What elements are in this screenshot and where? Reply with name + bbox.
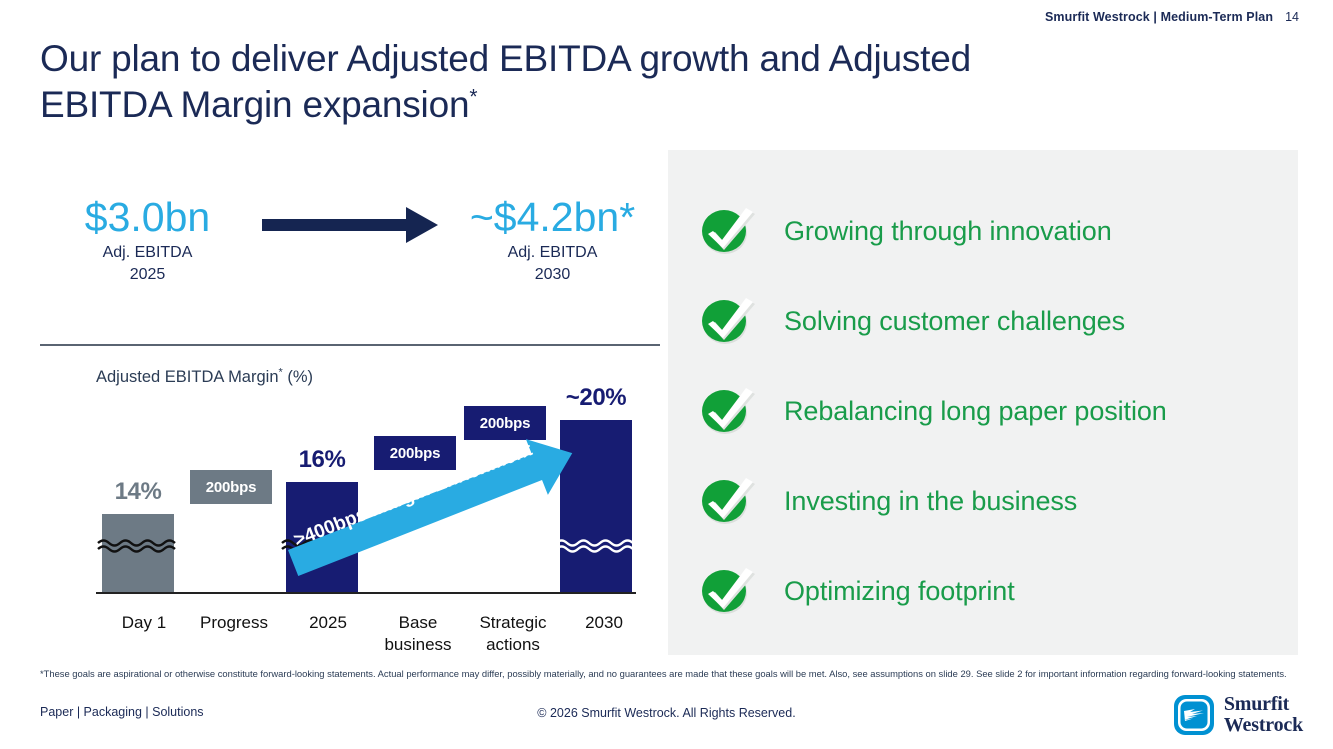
- xtick-strategic-actions: Strategic actions: [462, 612, 564, 656]
- bar-label-2025: 16%: [286, 446, 358, 474]
- xtick-day-1: Day 1: [98, 612, 190, 634]
- slide: Smurfit Westrock | Medium-Term Plan 14 O…: [0, 0, 1333, 749]
- chart-title-units: (%): [287, 368, 313, 386]
- chart-axis-line: [96, 592, 636, 594]
- ebitda-end-label-2: 2030: [445, 264, 660, 286]
- xtick-2025-line1: 2025: [282, 612, 374, 634]
- bullet-item-optimizing-footprint: Optimizing footprint: [698, 546, 1298, 636]
- check-circle-icon: [698, 292, 760, 350]
- bar-progress: 200bps: [190, 470, 272, 504]
- page-number: 14: [1285, 10, 1299, 24]
- bar-day-1: [102, 514, 174, 592]
- section-divider: [40, 344, 660, 346]
- ebitda-end-value: ~$4.2bn*: [445, 192, 660, 242]
- bar-2025: [286, 482, 358, 592]
- xtick-2030-line1: 2030: [558, 612, 650, 634]
- bar-label-2030: ~20%: [552, 384, 640, 412]
- bar-2030: [560, 420, 632, 592]
- footer-logo: Smurfit Westrock: [1173, 694, 1303, 736]
- logo-wordmark: Smurfit Westrock: [1224, 694, 1303, 736]
- ebitda-growth-row: $3.0bn Adj. EBITDA 2025 ~$4.2bn* Adj. EB…: [40, 192, 660, 312]
- page-title-line1: Our plan to deliver Adjusted EBITDA grow…: [40, 38, 971, 79]
- footer-copyright: © 2026 Smurfit Westrock. All Rights Rese…: [0, 706, 1333, 720]
- left-column: $3.0bn Adj. EBITDA 2025 ~$4.2bn* Adj. EB…: [40, 150, 660, 655]
- smurfit-westrock-logo-icon: [1173, 694, 1215, 736]
- slide-header: Smurfit Westrock | Medium-Term Plan 14: [1045, 10, 1299, 24]
- check-circle-icon: [698, 472, 760, 530]
- check-circle-icon: [698, 202, 760, 260]
- logo-wordmark-line1: Smurfit: [1224, 693, 1289, 715]
- ebitda-start-label-2: 2025: [40, 264, 255, 286]
- chart-title-text: Adjusted EBITDA Margin: [96, 368, 279, 386]
- bullet-label: Growing through innovation: [784, 215, 1112, 247]
- margin-waterfall-chart: Adjusted EBITDA Margin* (%) 14% 200bps 1…: [40, 368, 660, 658]
- ebitda-start-label-1: Adj. EBITDA: [40, 242, 255, 264]
- bullet-item-growing-through-innovation: Growing through innovation: [698, 186, 1298, 276]
- chart-title: Adjusted EBITDA Margin* (%): [96, 368, 313, 387]
- bar-strategic-actions: 200bps: [464, 406, 546, 440]
- xtick-strategic-actions-line2: actions: [462, 634, 564, 656]
- page-title: Our plan to deliver Adjusted EBITDA grow…: [40, 36, 1160, 128]
- chart-x-axis-labels: Day 1 Progress 2025 Base business Strate…: [96, 612, 636, 658]
- bullet-label: Investing in the business: [784, 485, 1077, 517]
- bar-base-business: 200bps: [374, 436, 456, 470]
- strategy-bullets-panel: Growing through innovation Solving custo…: [668, 150, 1298, 655]
- page-title-line2: EBITDA Margin expansion: [40, 84, 469, 125]
- xtick-progress-line1: Progress: [186, 612, 282, 634]
- check-circle-icon: [698, 562, 760, 620]
- bar-label-day-1: 14%: [102, 478, 174, 506]
- ebitda-start-block: $3.0bn Adj. EBITDA 2025: [40, 192, 255, 286]
- xtick-2030: 2030: [558, 612, 650, 634]
- xtick-base-business: Base business: [370, 612, 466, 656]
- right-arrow-icon: [260, 200, 440, 250]
- logo-wordmark-line2: Westrock: [1224, 714, 1303, 736]
- bullet-label: Solving customer challenges: [784, 305, 1125, 337]
- bullet-item-rebalancing-long-paper-position: Rebalancing long paper position: [698, 366, 1298, 456]
- ebitda-end-label-1: Adj. EBITDA: [445, 242, 660, 264]
- footnote: *These goals are aspirational or otherwi…: [40, 668, 1295, 681]
- header-title: Smurfit Westrock | Medium-Term Plan: [1045, 10, 1273, 24]
- bullet-label: Optimizing footprint: [784, 575, 1015, 607]
- bullet-label: Rebalancing long paper position: [784, 395, 1167, 427]
- xtick-day-1-line1: Day 1: [98, 612, 190, 634]
- chart-title-footnote-marker: *: [279, 367, 283, 379]
- ebitda-end-block: ~$4.2bn* Adj. EBITDA 2030: [445, 192, 660, 286]
- chart-plot-area: 14% 200bps 16% 200bps 200bps ~20%: [40, 398, 660, 610]
- bullet-item-solving-customer-challenges: Solving customer challenges: [698, 276, 1298, 366]
- check-circle-icon: [698, 382, 760, 440]
- bullet-item-investing-in-the-business: Investing in the business: [698, 456, 1298, 546]
- xtick-progress: Progress: [186, 612, 282, 634]
- xtick-base-business-line1: Base: [370, 612, 466, 634]
- ebitda-start-value: $3.0bn: [40, 192, 255, 242]
- xtick-strategic-actions-line1: Strategic: [462, 612, 564, 634]
- page-title-footnote-marker: *: [469, 86, 477, 109]
- xtick-base-business-line2: business: [370, 634, 466, 656]
- xtick-2025: 2025: [282, 612, 374, 634]
